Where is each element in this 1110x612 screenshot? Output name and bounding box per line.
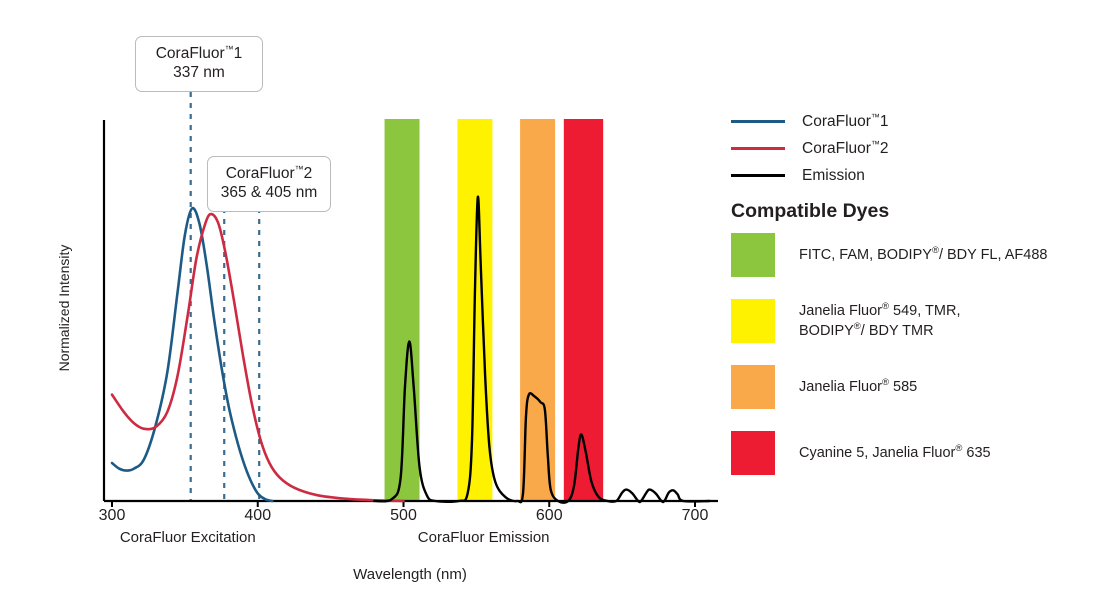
dye-label: Janelia Fluor® 585 <box>799 377 917 397</box>
dye-label: Janelia Fluor® 549, TMR,BODIPY®/ BDY TMR <box>799 301 960 342</box>
compatible-dyes-title: Compatible Dyes <box>731 200 889 223</box>
chart-page: CoraFluor™1 337 nm CoraFluor™2 365 & 405… <box>0 0 1110 612</box>
callout1-value: 337 nm <box>148 64 250 83</box>
series-curve-corafluor2 <box>112 214 404 501</box>
trademark-icon: ™ <box>871 139 880 149</box>
series-curve-corafluor1 <box>112 208 272 501</box>
x-tick-label-600: 600 <box>519 507 579 525</box>
registered-icon: ® <box>882 301 889 312</box>
dye-color-swatch <box>731 431 775 475</box>
dye-color-swatch <box>731 233 775 277</box>
registered-icon: ® <box>854 321 861 332</box>
x-axis-title: Wavelength (nm) <box>260 566 560 583</box>
callout2-index: 2 <box>304 165 313 182</box>
registered-icon: ® <box>932 245 939 256</box>
registered-icon: ® <box>882 377 889 388</box>
y-axis-title: Normalized Intensity <box>56 218 72 398</box>
legend-item-label: CoraFluor™1 <box>802 112 889 131</box>
dye-label: Cyanine 5, Janelia Fluor® 635 <box>799 443 991 463</box>
registered-icon: ® <box>955 443 962 454</box>
legend-line-swatch <box>731 120 785 123</box>
emission-section-label: CoraFluor Emission <box>374 529 594 546</box>
trademark-icon: ™ <box>225 44 234 54</box>
x-tick-label-400: 400 <box>228 507 288 525</box>
x-tick-label-300: 300 <box>82 507 142 525</box>
callout-corafluor2: CoraFluor™2 365 & 405 nm <box>207 156 331 212</box>
legend-item-label: CoraFluor™2 <box>802 139 889 158</box>
trademark-icon: ™ <box>295 164 304 174</box>
dye-row-4: Cyanine 5, Janelia Fluor® 635 <box>731 431 1101 475</box>
dye-label: FITC, FAM, BODIPY®/ BDY FL, AF488 <box>799 245 1047 265</box>
dye-color-swatch <box>731 299 775 343</box>
x-tick-label-700: 700 <box>665 507 725 525</box>
excitation-section-label: CoraFluor Excitation <box>78 529 298 546</box>
callout-corafluor1: CoraFluor™1 337 nm <box>135 36 263 92</box>
callout1-name: CoraFluor <box>156 45 225 62</box>
compatible-dyes-list: FITC, FAM, BODIPY®/ BDY FL, AF488Janelia… <box>731 233 1101 497</box>
callout2-name: CoraFluor <box>226 165 295 182</box>
legend-item-label: Emission <box>802 167 865 185</box>
dye-color-swatch <box>731 365 775 409</box>
dye-row-3: Janelia Fluor® 585 <box>731 365 1101 409</box>
dye-row-2: Janelia Fluor® 549, TMR,BODIPY®/ BDY TMR <box>731 299 1101 343</box>
legend-line-swatch <box>731 174 785 177</box>
trademark-icon: ™ <box>871 112 880 122</box>
legend-item-2: CoraFluor™2 <box>731 135 1091 162</box>
legend-item-1: CoraFluor™1 <box>731 108 1091 135</box>
callout2-value: 365 & 405 nm <box>220 184 318 203</box>
legend-line-swatch <box>731 147 785 150</box>
series-legend: CoraFluor™1CoraFluor™2Emission <box>731 108 1091 189</box>
dye-row-1: FITC, FAM, BODIPY®/ BDY FL, AF488 <box>731 233 1101 277</box>
legend-item-3: Emission <box>731 162 1091 189</box>
x-tick-label-500: 500 <box>374 507 434 525</box>
callout1-index: 1 <box>234 45 243 62</box>
